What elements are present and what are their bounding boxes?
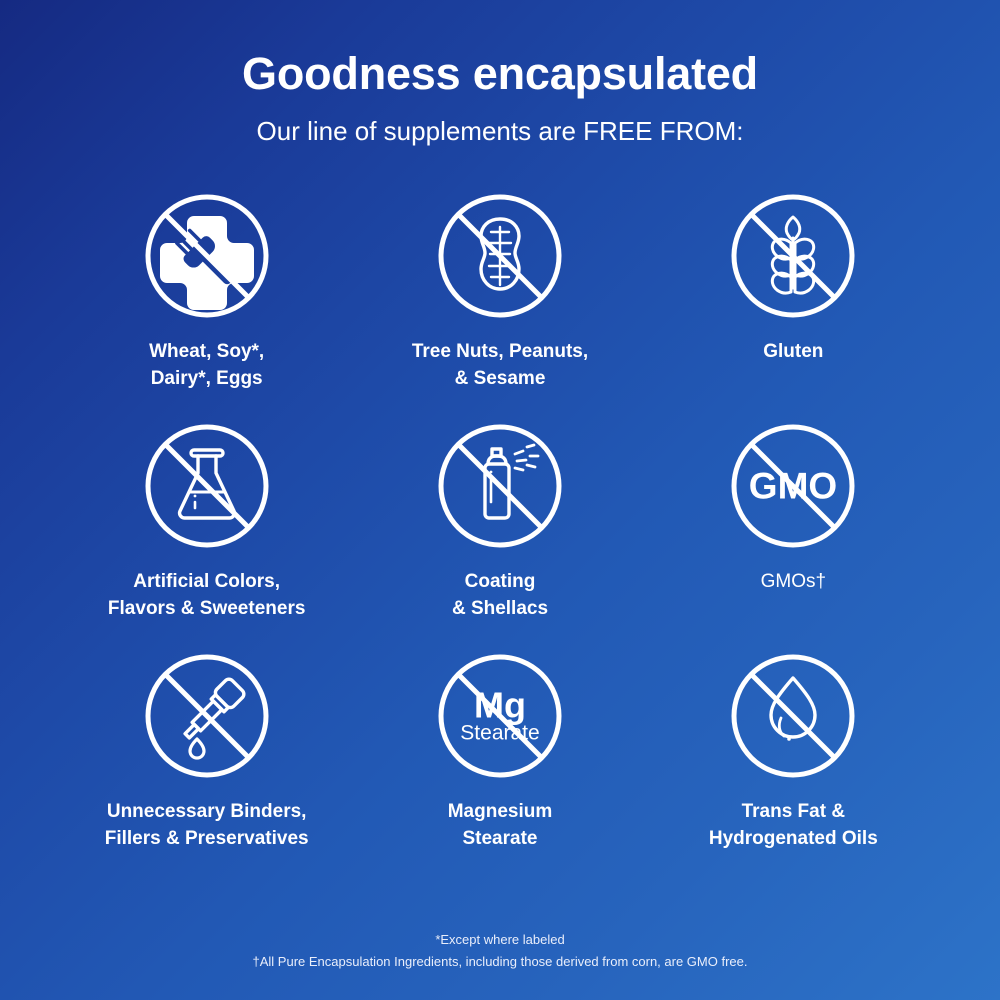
grid-item-label: Coating & Shellacs [452,568,548,623]
no-wheat-stalk-icon [723,186,863,326]
grid-item-label: Wheat, Soy*, Dairy*, Eggs [149,338,264,393]
no-spray-can-icon [430,416,570,556]
grid-item-binders: Unnecessary Binders, Fillers & Preservat… [60,646,353,876]
no-peanut-icon [430,186,570,326]
grid-item-label: Unnecessary Binders, Fillers & Preservat… [105,798,309,853]
grid-item-trans-fat: Trans Fat & Hydrogenated Oils [647,646,940,876]
footnote-gmo-free: †All Pure Encapsulation Ingredients, inc… [0,951,1000,972]
no-oil-droplet-icon [723,646,863,786]
header: Goodness encapsulated Our line of supple… [0,0,1000,146]
grid-item-artificial-colors: Artificial Colors, Flavors & Sweeteners [60,416,353,646]
no-magnesium-stearate-icon: Mg Stearate [430,646,570,786]
no-allergen-cross-fork-icon [137,186,277,326]
page-title: Goodness encapsulated [0,50,1000,97]
grid-item-label: Magnesium Stearate [448,798,553,853]
grid-item-magnesium-stearate: Mg Stearate Magnesium Stearate [353,646,646,876]
free-from-grid: Wheat, Soy*, Dairy*, Eggs [60,186,940,876]
infographic-poster: Goodness encapsulated Our line of supple… [0,0,1000,1000]
grid-item-gmo: GMO GMOs† [647,416,940,646]
footnotes: *Except where labeled †All Pure Encapsul… [0,929,1000,972]
no-flask-icon [137,416,277,556]
grid-item-allergens: Wheat, Soy*, Dairy*, Eggs [60,186,353,416]
page-subtitle: Our line of supplements are FREE FROM: [0,117,1000,146]
grid-item-label: Tree Nuts, Peanuts, & Sesame [412,338,588,393]
grid-item-coating: Coating & Shellacs [353,416,646,646]
no-dropper-icon [137,646,277,786]
grid-item-label: GMOs† [761,568,826,596]
grid-item-label: Gluten [763,338,823,366]
no-gmo-icon: GMO [723,416,863,556]
grid-item-nuts: Tree Nuts, Peanuts, & Sesame [353,186,646,416]
grid-item-gluten: Gluten [647,186,940,416]
grid-item-label: Artificial Colors, Flavors & Sweeteners [108,568,305,623]
grid-item-label: Trans Fat & Hydrogenated Oils [709,798,878,853]
footnote-except-where-labeled: *Except where labeled [0,929,1000,950]
